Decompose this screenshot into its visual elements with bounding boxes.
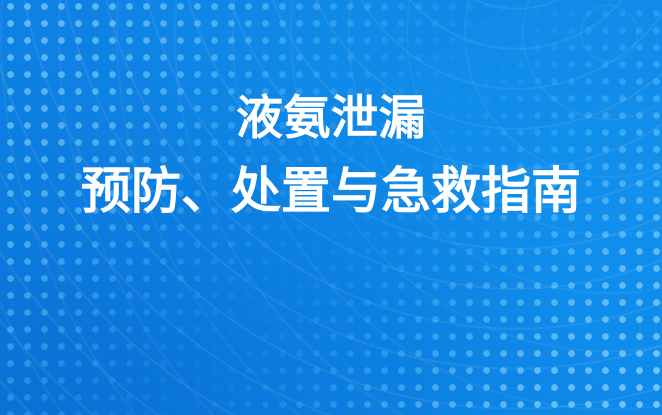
title-block: 液氨泄漏 预防、处置与急救指南	[0, 94, 662, 216]
title-line-primary: 液氨泄漏	[0, 94, 662, 141]
title-line-secondary: 预防、处置与急救指南	[0, 166, 662, 216]
banner-cover: 液氨泄漏 预防、处置与急救指南	[0, 0, 662, 415]
